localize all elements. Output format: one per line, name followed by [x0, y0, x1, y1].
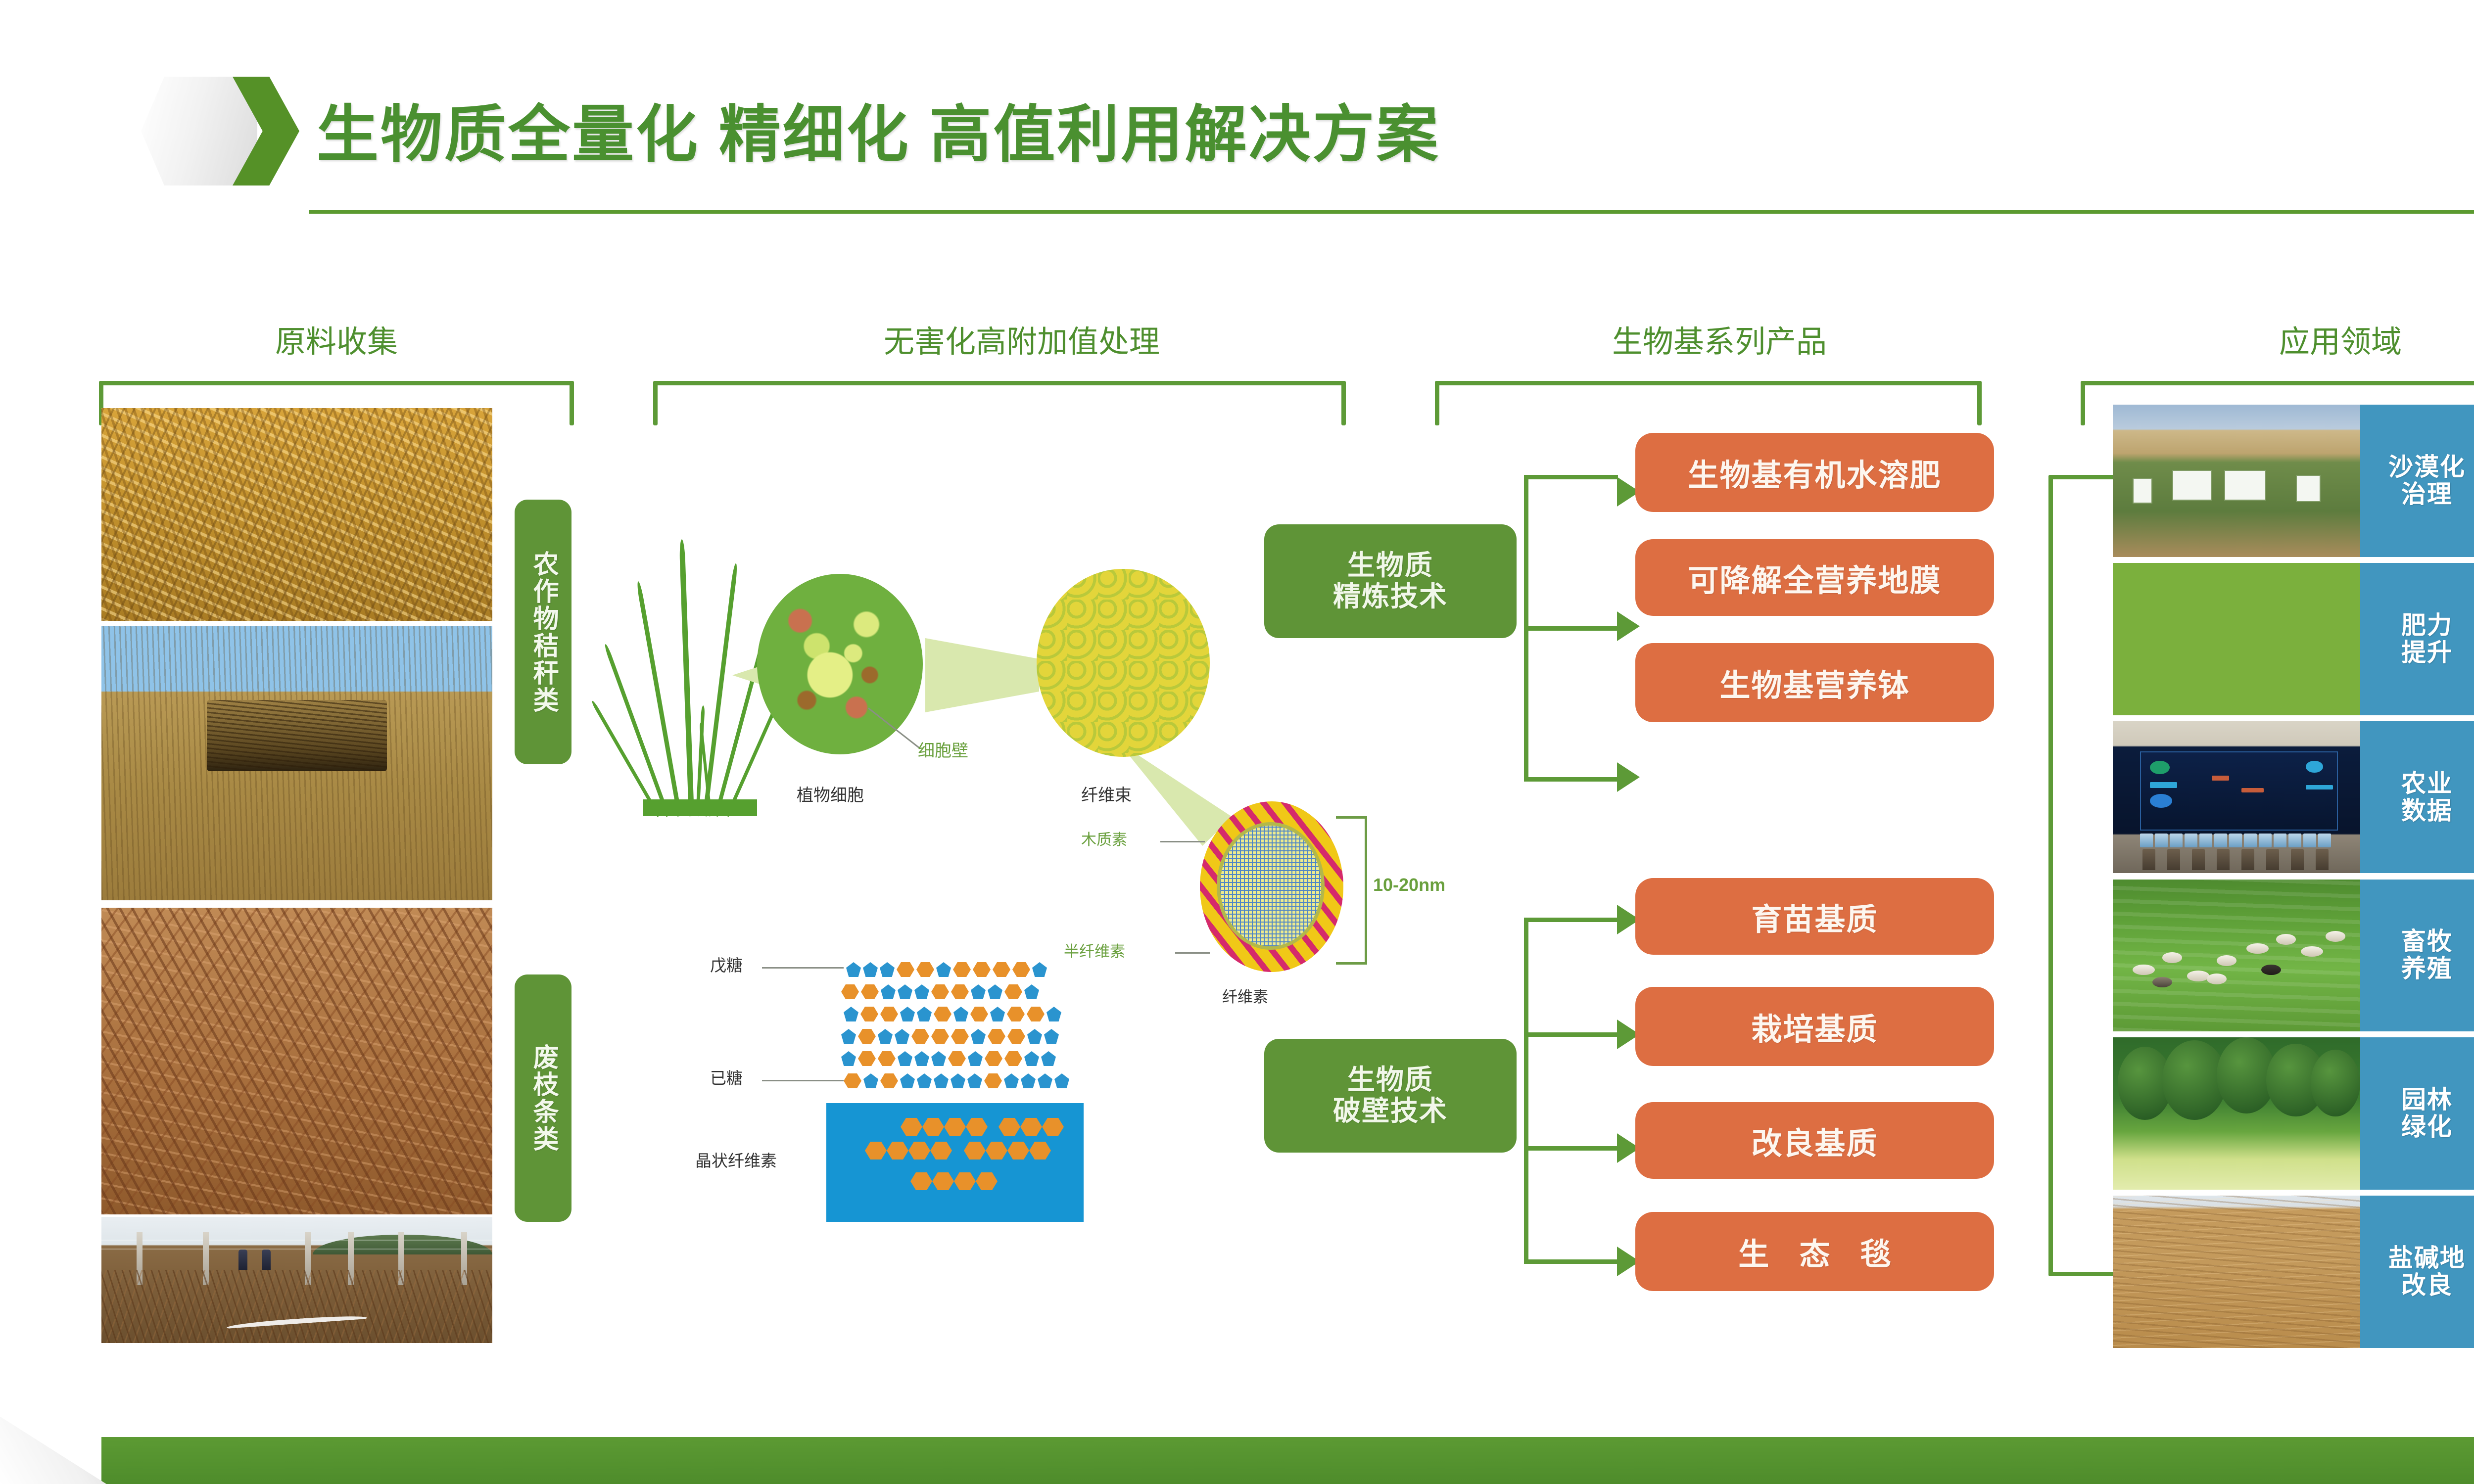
app-saline-line2: 改良	[2401, 1272, 2453, 1299]
plant-cell-diagram	[757, 574, 923, 754]
label-lignin: 木质素	[1081, 827, 1127, 849]
application-label-saline[interactable]: 盐碱地 改良	[2360, 1196, 2474, 1348]
orchard-pruning-photo	[101, 1217, 492, 1343]
hexose-leader-line	[762, 1080, 844, 1081]
label-nanometer-dimension: 10-20nm	[1373, 875, 1445, 895]
app-livestock-line2: 养殖	[2401, 955, 2453, 982]
feedstock-category-straw: 农作物秸秆类	[515, 500, 571, 764]
app-desert-line1: 沙漠化	[2388, 454, 2466, 481]
label-plant-cell: 植物细胞	[797, 782, 864, 806]
tech-wallbreak-line2: 破壁技术	[1333, 1096, 1448, 1127]
footer-bar	[101, 1437, 2474, 1484]
page-title: 生物质全量化 精细化 高值利用解决方案	[317, 84, 1440, 174]
product-pill-cultivation-substrate[interactable]: 栽培基质	[1635, 987, 1994, 1066]
app-fertility-line1: 肥力	[2401, 612, 2453, 639]
desert-control-photo	[2113, 405, 2360, 557]
app-desert-line2: 治理	[2401, 481, 2453, 508]
tech-pill-wallbreak[interactable]: 生物质 破壁技术	[1264, 1039, 1517, 1153]
app-agridata-line1: 农业	[2401, 770, 2453, 797]
section-title-collection: 原料收集	[163, 317, 510, 361]
dimension-tick-top	[1336, 816, 1367, 819]
zoom-cone-2	[925, 638, 1039, 712]
label-cell-wall: 细胞壁	[918, 737, 968, 761]
application-label-agridata[interactable]: 农业 数据	[2360, 721, 2474, 874]
label-hemicellulose: 半纤维素	[1064, 939, 1125, 961]
app-saline-line1: 盐碱地	[2388, 1245, 2466, 1272]
straw-bale-field-photo	[101, 626, 492, 900]
header-hexagon-decor	[141, 77, 257, 185]
cellulose-fiber-cross-section	[1200, 801, 1343, 972]
feedstock-category-branches: 废枝条类	[515, 974, 571, 1222]
crystalline-cellulose-diagram	[826, 1103, 1084, 1222]
arrow-icon-r3	[1617, 762, 1640, 792]
section-title-processing: 无害化高附加值处理	[693, 317, 1351, 361]
application-label-landscaping[interactable]: 园林 绿化	[2360, 1037, 2474, 1190]
cabbage-field-photo	[2113, 563, 2360, 715]
app-fertility-line2: 提升	[2401, 639, 2453, 666]
saline-land-photo	[2113, 1196, 2360, 1348]
fiber-bundle-diagram	[1037, 569, 1210, 757]
label-cellulose: 纤维素	[1222, 984, 1268, 1007]
tech-refining-line2: 精炼技术	[1333, 581, 1448, 612]
app-agridata-line2: 数据	[2401, 797, 2453, 825]
bracket-processing	[653, 381, 1346, 425]
product-pill-biodegradable-mulch-film[interactable]: 可降解全营养地膜	[1635, 539, 1994, 616]
application-label-desertification[interactable]: 沙漠化 治理	[2360, 405, 2474, 557]
park-landscape-photo	[2113, 1037, 2360, 1190]
tech-refining-line1: 生物质	[1347, 550, 1433, 581]
dimension-bar	[1365, 816, 1367, 965]
dimension-tick-bottom	[1336, 962, 1367, 965]
label-fiber-bundle: 纤维束	[1081, 782, 1132, 806]
app-landscape-line2: 绿化	[2401, 1113, 2453, 1141]
hemicellulose-leader-line	[1175, 952, 1210, 954]
label-hexose: 已糖	[710, 1065, 743, 1089]
app-landscape-line1: 园林	[2401, 1086, 2453, 1113]
connector-refining	[1524, 475, 1672, 782]
application-label-livestock[interactable]: 畜牧 养殖	[2360, 880, 2474, 1032]
tech-wallbreak-line1: 生物质	[1347, 1065, 1433, 1096]
label-pentose: 戊糖	[710, 952, 743, 976]
arrow-icon-r2	[1617, 611, 1640, 641]
tech-pill-refining[interactable]: 生物质 精炼技术	[1264, 524, 1517, 638]
sheep-grazing-photo	[2113, 880, 2360, 1032]
agri-data-center-photo	[2113, 721, 2360, 874]
section-title-applications: 应用领域	[2093, 317, 2474, 361]
product-pill-nutrient-pot[interactable]: 生物基营养钵	[1635, 643, 1994, 722]
bracket-application-link	[2048, 475, 2123, 1276]
bracket-products	[1435, 381, 1982, 425]
label-crystalline-cellulose: 晶状纤维素	[695, 1148, 777, 1171]
slide-canvas: 生物质全量化 精细化 高值利用解决方案 原料收集 无害化高附加值处理 生物基系列…	[0, 0, 2474, 1484]
product-pill-water-soluble-fertilizer[interactable]: 生物基有机水溶肥	[1635, 433, 1994, 512]
app-livestock-line1: 畜牧	[2401, 928, 2453, 955]
header-divider	[309, 210, 2474, 214]
zoom-cone-3	[1118, 742, 1232, 846]
lignin-leader-line	[1160, 841, 1205, 842]
product-pill-ecological-blanket[interactable]: 生 态 毯	[1635, 1212, 1994, 1291]
pentose-leader-line	[762, 967, 844, 969]
product-pill-improvement-substrate[interactable]: 改良基质	[1635, 1102, 1994, 1179]
footer-corner-left-decor	[0, 1397, 106, 1484]
section-title-products: 生物基系列产品	[1430, 317, 2009, 361]
pruned-branches-photo	[101, 908, 492, 1214]
corn-stover-photo	[101, 408, 492, 621]
product-pill-seedling-substrate[interactable]: 育苗基质	[1635, 878, 1994, 955]
application-label-fertility[interactable]: 肥力 提升	[2360, 563, 2474, 715]
